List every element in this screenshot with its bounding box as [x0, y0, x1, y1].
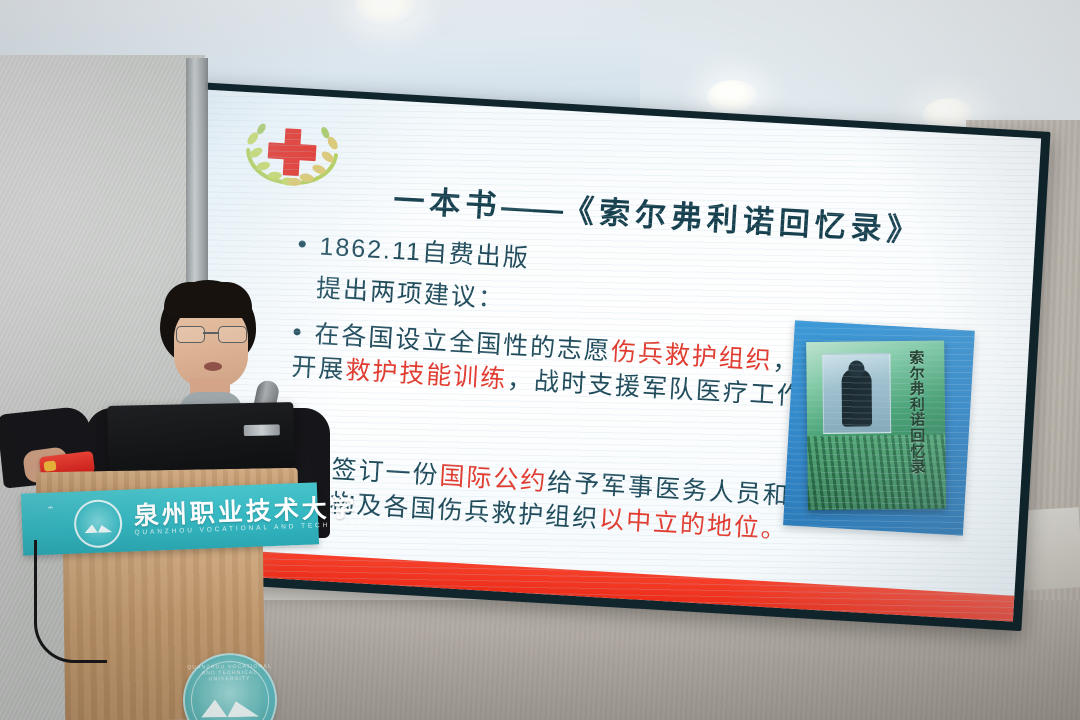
book-cover-image: 索尔弗利诺回忆录: [783, 320, 975, 535]
speaker-fringe: [164, 282, 252, 318]
slide-bullet-1: 1862.11自费出版: [298, 229, 531, 276]
eyeglass-bridge: [203, 332, 218, 334]
slide-title-book: 《索尔弗利诺回忆录》: [562, 193, 923, 249]
university-emblem-badge: QUANZHOU VOCATIONAL AND TECHNICAL UNIVER…: [182, 652, 277, 720]
lecture-hall-photo: 一本书——《索尔弗利诺回忆录》 1862.11自费出版 提出两项建议： 在各国设…: [0, 0, 1080, 720]
bullet-dot-icon: [299, 240, 306, 247]
ceiling-downlight-icon: [707, 80, 759, 114]
slide-bullet-1-text: 1862.11自费出版: [319, 233, 531, 273]
eyeglass-lens-right: [218, 326, 247, 343]
book-cover-portrait-head: [848, 360, 864, 377]
proposal-2-part-highlight: 国际公约: [439, 462, 548, 496]
seal-sun-rays-icon: [96, 509, 115, 524]
book-spine-title: 索尔弗利诺回忆录: [909, 351, 933, 491]
power-cable: [34, 540, 107, 663]
eyeglasses-icon: [176, 326, 248, 341]
slide-title-dash: ——: [500, 189, 564, 228]
proposal-1-part-highlight: 救护技能训练: [345, 356, 508, 393]
book-cover-portrait-frame: [822, 353, 891, 434]
laptop-brand-badge: [244, 424, 280, 436]
laptop[interactable]: [107, 402, 294, 478]
speaker-mouth: [204, 362, 222, 371]
book-cover: 索尔弗利诺回忆录: [806, 341, 946, 511]
slide-title-main: 一本书: [392, 183, 502, 224]
podium-small-mark-icon: ⌁: [47, 502, 54, 514]
eyeglass-lens-left: [176, 326, 205, 343]
slide-lead-in: 提出两项建议：: [315, 272, 506, 316]
proposal-1-part-highlight: 伤兵救护组织: [610, 338, 773, 375]
proposal-2-part-highlight: 以中立的地位。: [598, 505, 788, 544]
badge-english-text: QUANZHOU VOCATIONAL AND TECHNICAL UNIVER…: [185, 663, 275, 682]
slide-proposal-1: 在各国设立全国性的志愿伤兵救护组织，平时开展救护技能训练，战时支援军队医疗工作；: [291, 317, 874, 418]
proposal-2-part: 签订一份: [331, 456, 440, 490]
